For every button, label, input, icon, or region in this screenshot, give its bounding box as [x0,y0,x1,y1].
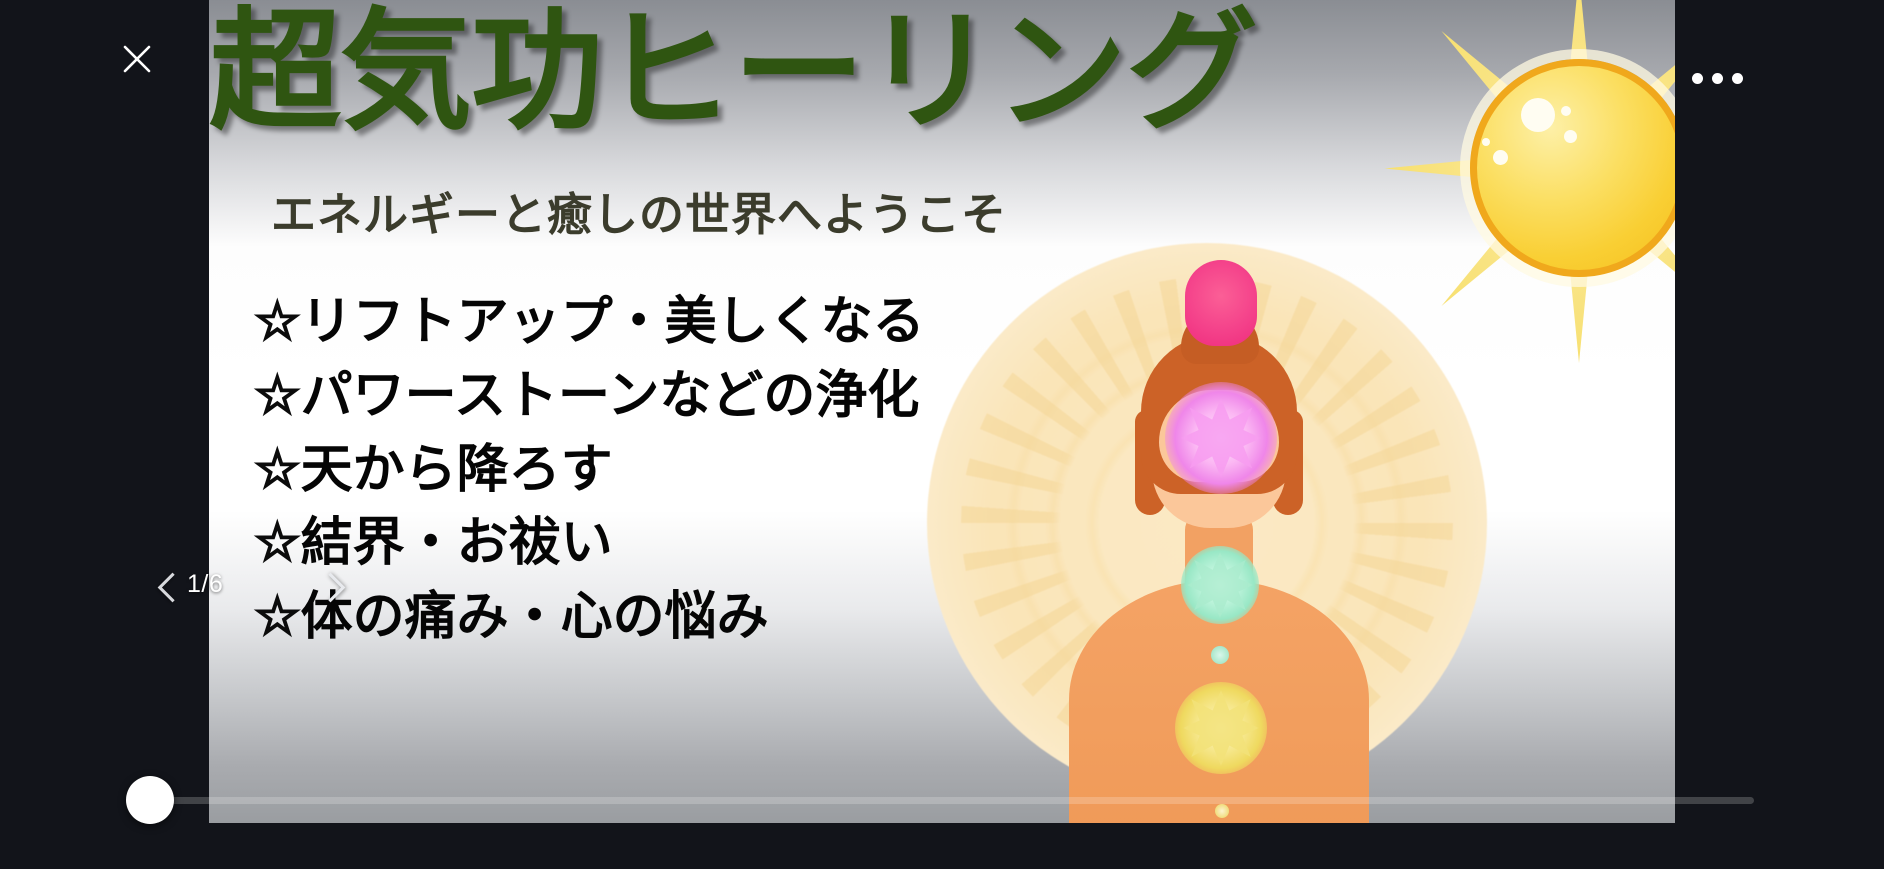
page-indicator: 1/6 [187,570,223,599]
bullet-text: パワーストーンなどの浄化 [301,367,920,425]
heart-chakra-dot [1211,646,1229,664]
star-icon: ☆ [254,367,301,425]
bullet-item: ☆結界・お祓い [254,507,1154,581]
more-dot-2 [1712,73,1723,84]
close-icon[interactable] [113,35,161,83]
more-dot-3 [1732,73,1743,84]
scrub-thumb[interactable] [126,776,174,824]
sacral-chakra-dot [1215,804,1229,818]
more-dot-1 [1692,73,1703,84]
image-viewer: 超気功ヒーリング エネルギーと癒しの世界へようこそ ☆リフトアップ・美しくなる … [0,0,1884,869]
chevron-right-icon[interactable] [310,558,352,620]
more-options-icon[interactable] [1687,58,1747,98]
star-icon: ☆ [254,514,301,572]
slide-image[interactable]: 超気功ヒーリング エネルギーと癒しの世界へようこそ ☆リフトアップ・美しくなる … [209,0,1675,823]
sun-highlight-3 [1561,106,1571,116]
slide-bullet-list: ☆リフトアップ・美しくなる ☆パワーストーンなどの浄化 ☆天から降ろす ☆結界・… [254,286,1154,655]
sun-highlight-5 [1482,138,1490,146]
bullet-text: リフトアップ・美しくなる [301,293,925,351]
sun-highlight-4 [1493,150,1508,165]
bullet-item: ☆リフトアップ・美しくなる [254,286,1154,360]
bullet-item: ☆天から降ろす [254,434,1154,508]
star-icon: ☆ [254,441,301,499]
sun-disc [1470,59,1675,277]
throat-chakra [1181,546,1259,624]
slide-title: 超気功ヒーリング [209,0,1129,150]
bullet-text: 天から降ろす [301,441,613,499]
bullet-text: 体の痛み・心の悩み [301,588,769,646]
third-eye-chakra [1165,382,1277,494]
sun-illustration [1369,0,1675,378]
slide-subtitle: エネルギーと癒しの世界へようこそ [271,178,1007,243]
bullet-item: ☆パワーストーンなどの浄化 [254,360,1154,434]
sun-highlight-2 [1564,130,1577,143]
scrub-slider[interactable] [150,794,1754,806]
bullet-item: ☆体の痛み・心の悩み [254,581,1154,655]
scrub-track[interactable] [150,797,1754,804]
star-icon: ☆ [254,293,301,351]
sun-highlight-1 [1521,98,1555,132]
chevron-left-icon[interactable] [148,558,190,620]
star-icon: ☆ [254,588,301,646]
solar-plexus-chakra [1175,682,1267,774]
crown-chakra [1185,260,1257,346]
